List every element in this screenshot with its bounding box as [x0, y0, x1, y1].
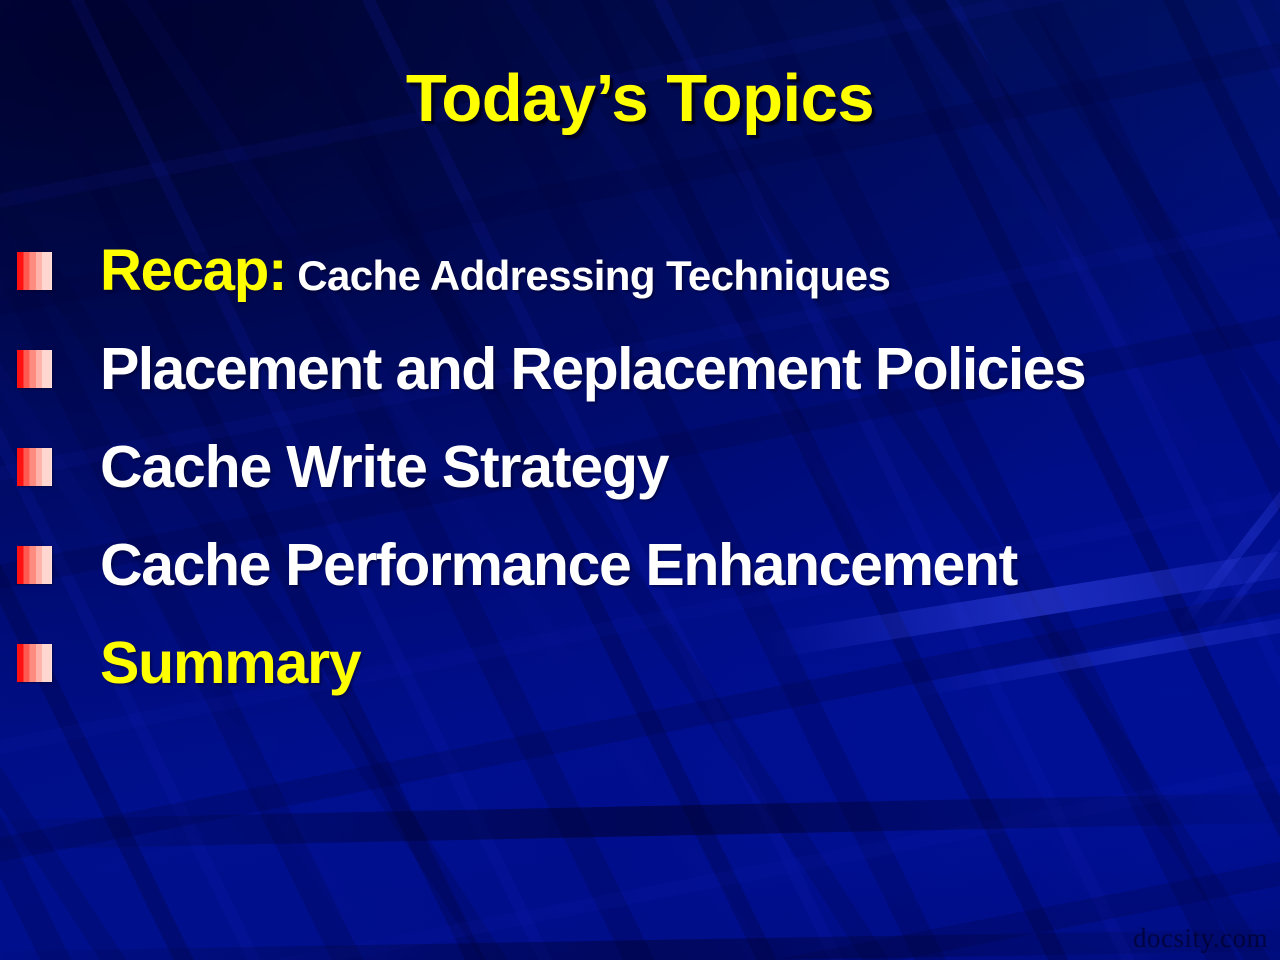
- bullet-item-summary: Summary: [0, 614, 1280, 712]
- slide-title: Today’s Topics: [0, 60, 1280, 137]
- bullet-text-summary: Summary: [100, 634, 361, 693]
- bullet-text-cache-performance-enhancement: Cache Performance Enhancement: [100, 536, 1017, 595]
- bullet-text-cache-write-strategy: Cache Write Strategy: [100, 438, 668, 497]
- striped-square-bullet-icon: [17, 546, 52, 584]
- bullet-rest-recap: Cache Addressing Techniques: [286, 252, 890, 299]
- bullet-text-placement-replacement: Placement and Replacement Policies: [100, 340, 1085, 399]
- bullet-item-cache-write-strategy: Cache Write Strategy: [0, 418, 1280, 516]
- striped-square-bullet-icon: [17, 448, 52, 486]
- striped-square-bullet-icon: [17, 252, 52, 290]
- bullet-lead-summary: Summary: [100, 630, 361, 696]
- bullet-list: Recap: Cache Addressing Techniques Place…: [0, 222, 1280, 712]
- bullet-item-placement-replacement: Placement and Replacement Policies: [0, 320, 1280, 418]
- bullet-lead-cache-write-strategy: Cache Write Strategy: [100, 434, 668, 500]
- slide-content: Today’s Topics Recap: Cache Addressing T…: [0, 0, 1280, 960]
- bullet-item-recap: Recap: Cache Addressing Techniques: [0, 222, 1280, 320]
- bullet-text-recap: Recap: Cache Addressing Techniques: [100, 242, 890, 300]
- watermark: docsity.com: [1133, 923, 1268, 954]
- bullet-lead-placement-replacement: Placement and Replacement Policies: [100, 336, 1085, 402]
- bullet-lead-cache-performance-enhancement: Cache Performance Enhancement: [100, 532, 1017, 598]
- bullet-item-cache-performance-enhancement: Cache Performance Enhancement: [0, 516, 1280, 614]
- striped-square-bullet-icon: [17, 644, 52, 682]
- bullet-lead-recap: Recap:: [100, 238, 286, 303]
- striped-square-bullet-icon: [17, 350, 52, 388]
- presentation-slide: Today’s Topics Recap: Cache Addressing T…: [0, 0, 1280, 960]
